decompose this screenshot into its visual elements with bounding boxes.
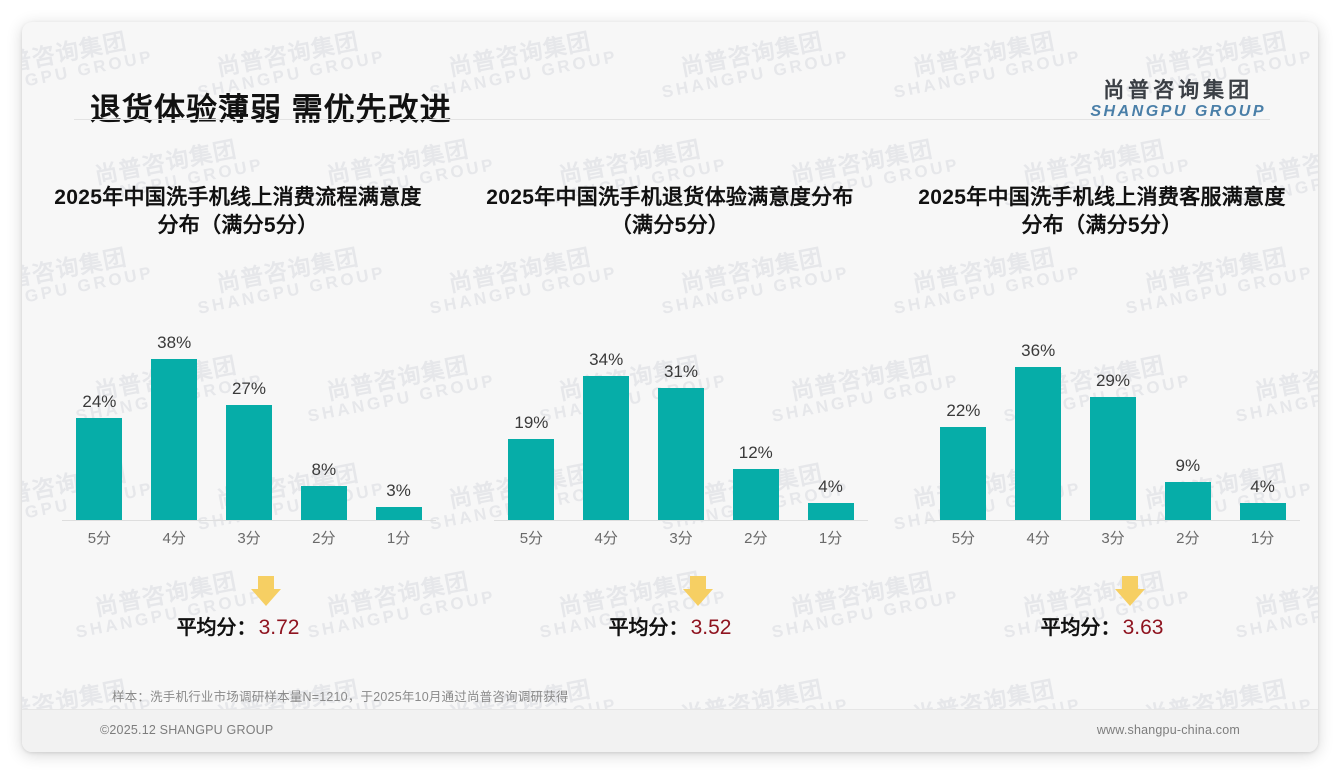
footer-copyright: ©2025.12 SHANGPU GROUP — [100, 723, 273, 737]
category-label: 2分 — [1152, 527, 1223, 548]
brand-logo: 尚普咨询集团 SHANGPU GROUP — [1090, 80, 1266, 120]
slide-header: 退货体验薄弱 需优先改进 尚普咨询集团 SHANGPU GROUP — [22, 22, 1318, 120]
bar-group[interactable]: 12% — [720, 302, 791, 520]
category-label: 4分 — [1003, 527, 1074, 548]
bar[interactable] — [226, 405, 272, 520]
average-score-value: 3.63 — [1123, 616, 1164, 639]
bar-group[interactable]: 27% — [213, 302, 284, 520]
bar-value-label: 8% — [312, 460, 337, 480]
bar-group[interactable]: 3% — [363, 302, 434, 520]
category-axis: 5分4分3分2分1分 — [494, 521, 868, 553]
bar[interactable] — [733, 469, 779, 520]
category-label: 5分 — [64, 527, 135, 548]
chart-panel-2: 2025年中国洗手机退货体验满意度分布（满分5分）19%34%31%12%4%5… — [454, 142, 886, 672]
bar[interactable] — [376, 507, 422, 520]
page-title: 退货体验薄弱 需优先改进 — [90, 84, 452, 129]
footer-website: www.shangpu-china.com — [1097, 723, 1240, 737]
brand-name-cn: 尚普咨询集团 — [1090, 80, 1266, 103]
bar-value-label: 19% — [514, 413, 548, 433]
bar-value-label: 24% — [82, 392, 116, 412]
arrow-wrap — [886, 572, 1318, 606]
category-label: 4分 — [139, 527, 210, 548]
arrow-down-icon — [251, 576, 281, 606]
arrow-down-icon — [683, 576, 713, 606]
bar-value-label: 9% — [1176, 456, 1201, 476]
chart-panels: 2025年中国洗手机线上消费流程满意度分布（满分5分）24%38%27%8%3%… — [22, 142, 1318, 672]
bar[interactable] — [508, 439, 554, 520]
bar[interactable] — [301, 486, 347, 520]
category-label: 3分 — [645, 527, 716, 548]
bar-group[interactable]: 38% — [139, 302, 210, 520]
bar-value-label: 36% — [1021, 341, 1055, 361]
bar-value-label: 12% — [739, 443, 773, 463]
category-label: 4分 — [571, 527, 642, 548]
plot-area: 22%36%29%9%4% — [926, 302, 1300, 521]
bar-group[interactable]: 36% — [1003, 302, 1074, 520]
header-divider — [74, 119, 1270, 120]
bar[interactable] — [1165, 482, 1211, 520]
category-label: 5分 — [928, 527, 999, 548]
bar[interactable] — [808, 503, 854, 520]
bar[interactable] — [1240, 503, 1286, 520]
bar[interactable] — [583, 376, 629, 521]
arrow-down-icon — [1115, 576, 1145, 606]
chart-panel-3: 2025年中国洗手机线上消费客服满意度分布（满分5分）22%36%29%9%4%… — [886, 142, 1318, 672]
bar-group[interactable]: 29% — [1077, 302, 1148, 520]
bar-group[interactable]: 24% — [64, 302, 135, 520]
sample-footnote: 样本：洗手机行业市场调研样本量N=1210，于2025年10月通过尚普咨询调研获… — [112, 686, 569, 705]
category-label: 1分 — [363, 527, 434, 548]
category-label: 1分 — [1227, 527, 1298, 548]
average-callout: 平均分：3.72 — [22, 572, 454, 640]
chart-title: 2025年中国洗手机退货体验满意度分布（满分5分） — [482, 184, 857, 239]
arrow-wrap — [22, 572, 454, 606]
bar-group[interactable]: 8% — [288, 302, 359, 520]
bar-group[interactable]: 34% — [571, 302, 642, 520]
bar-value-label: 3% — [386, 481, 411, 501]
bar-value-label: 4% — [818, 477, 843, 497]
bar-value-label: 34% — [589, 350, 623, 370]
category-label: 3分 — [213, 527, 284, 548]
average-score-text: 平均分：3.52 — [454, 611, 886, 640]
category-axis: 5分4分3分2分1分 — [926, 521, 1300, 553]
average-score-label: 平均分： — [1041, 617, 1121, 639]
category-label: 1分 — [795, 527, 866, 548]
bar-group[interactable]: 4% — [795, 302, 866, 520]
arrow-wrap — [454, 572, 886, 606]
bar-chart: 24%38%27%8%3%5分4分3分2分1分 — [62, 302, 436, 552]
bar[interactable] — [940, 427, 986, 521]
bar-value-label: 31% — [664, 362, 698, 382]
bar-chart: 22%36%29%9%4%5分4分3分2分1分 — [926, 302, 1300, 552]
chart-title: 2025年中国洗手机线上消费客服满意度分布（满分5分） — [914, 184, 1289, 239]
bar[interactable] — [658, 388, 704, 520]
bar[interactable] — [76, 418, 122, 520]
bar-group[interactable]: 9% — [1152, 302, 1223, 520]
slide-footer: ©2025.12 SHANGPU GROUP www.shangpu-china… — [22, 709, 1318, 752]
bar-value-label: 38% — [157, 333, 191, 353]
average-score-text: 平均分：3.63 — [886, 611, 1318, 640]
category-label: 2分 — [288, 527, 359, 548]
bar-chart: 19%34%31%12%4%5分4分3分2分1分 — [494, 302, 868, 552]
bar[interactable] — [1090, 397, 1136, 520]
bar-value-label: 4% — [1250, 477, 1275, 497]
category-label: 2分 — [720, 527, 791, 548]
average-score-label: 平均分： — [609, 617, 689, 639]
category-label: 5分 — [496, 527, 567, 548]
bar-value-label: 27% — [232, 379, 266, 399]
bar-group[interactable]: 19% — [496, 302, 567, 520]
plot-area: 19%34%31%12%4% — [494, 302, 868, 521]
bar-group[interactable]: 22% — [928, 302, 999, 520]
plot-area: 24%38%27%8%3% — [62, 302, 436, 521]
chart-panel-1: 2025年中国洗手机线上消费流程满意度分布（满分5分）24%38%27%8%3%… — [22, 142, 454, 672]
average-score-text: 平均分：3.72 — [22, 611, 454, 640]
chart-title: 2025年中国洗手机线上消费流程满意度分布（满分5分） — [50, 184, 425, 239]
bar-value-label: 22% — [946, 401, 980, 421]
bar-group[interactable]: 31% — [645, 302, 716, 520]
average-score-value: 3.52 — [691, 616, 732, 639]
category-label: 3分 — [1077, 527, 1148, 548]
slide-card: 尚普咨询集团SHANGPU GROUP尚普咨询集团SHANGPU GROUP尚普… — [22, 22, 1318, 752]
average-score-value: 3.72 — [259, 616, 300, 639]
bar[interactable] — [151, 359, 197, 521]
average-score-label: 平均分： — [177, 617, 257, 639]
bar-value-label: 29% — [1096, 371, 1130, 391]
average-callout: 平均分：3.63 — [886, 572, 1318, 640]
brand-name-en: SHANGPU GROUP — [1090, 103, 1266, 120]
average-callout: 平均分：3.52 — [454, 572, 886, 640]
bar[interactable] — [1015, 367, 1061, 520]
category-axis: 5分4分3分2分1分 — [62, 521, 436, 553]
bar-group[interactable]: 4% — [1227, 302, 1298, 520]
